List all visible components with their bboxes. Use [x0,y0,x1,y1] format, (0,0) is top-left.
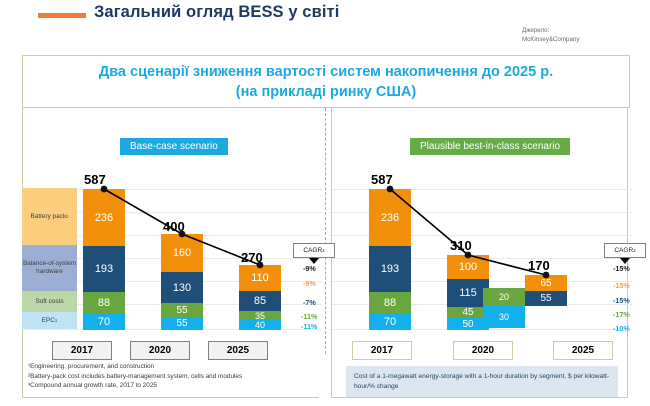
bar-segment-balance-of-system: 85 [239,291,281,311]
legend-label-soft-costs: Soft costs [35,298,63,306]
bar-segment-battery-pack: 236 [369,189,411,246]
cagr-label: CAGR [614,247,633,254]
cagr-battery-right: -15% [613,281,630,290]
bar-segment-epc: 40 [239,320,281,330]
scenario-badge-best-in-class: Plausible best-in-class scenario [410,138,570,155]
cagr-battery-left: -9% [303,279,316,288]
x-axis-label-2020-right: 2020 [453,341,513,360]
source-credit: Джерело: McKinsey&Company [522,26,642,44]
bar-segment-epc: 70 [369,313,411,330]
cagr-box-left: CAGR3 [293,243,335,258]
x-axis-label-2020-left: 2020 [130,341,190,360]
bar-total-2025-right: 170 [528,258,550,273]
cagr-epc-left: -11% [301,322,317,331]
page-title: Загальний огляд BESS у світі [94,3,339,22]
legend-item-battery-pack: Battery pack2 [22,188,77,245]
cagr-callout-right: CAGR3 [604,243,646,264]
bar-segment-balance-of-system: 130 [161,272,203,303]
cagr-label: CAGR [303,247,322,254]
panel-divider [325,108,326,354]
legend-sup-epc: 1 [55,317,57,325]
cagr-total-right: -15% [613,264,630,273]
slide-title-box: Два сценарії зниження вартості систем на… [22,55,630,108]
x-axis-label-2017-left: 2017 [52,341,112,360]
bar-2017-left: 236 193 88 70 [83,189,125,330]
chart-base-case: Battery pack2 Balance-of-system hardware… [22,170,322,330]
bar-segment-epc: 70 [83,313,125,330]
source-name: McKinsey&Company [522,35,642,44]
cagr-epc-right: -10% [613,324,630,333]
cagr-box-right: CAGR3 [604,243,646,258]
footnote-2: ²Battery-pack cost includes battery-mana… [28,372,242,382]
bar-segment-soft-costs: 35 [239,311,281,320]
bar-segment-balance-of-system: 193 [83,246,125,292]
legend: Battery pack2 Balance-of-system hardware… [22,188,77,329]
bar-segment-battery-pack: 100 [447,255,489,279]
bar-2025-left: 110 85 35 40 [239,265,281,330]
legend-item-balance-of-system: Balance-of-system hardware [22,245,77,291]
chart-note: Cost of a 1-megawatt energy-storage with… [346,366,618,397]
legend-item-epc: EPC1 [22,312,77,329]
legend-label-balance-of-system: Balance-of-system hardware [22,260,77,276]
cagr-soft-right: -17% [613,310,630,319]
bar-total-2020-left: 400 [163,219,185,234]
bar-segment-balance-of-system: 55 [525,291,567,306]
bar-total-2025-left: 270 [241,250,263,265]
bar-segment-soft-costs: 55 [161,303,203,317]
bar-segment-soft-costs: 20 [483,288,525,306]
slide-title-line2: (на прикладі ринку США) [236,82,416,102]
legend-label-epc: EPC [42,317,55,325]
cagr-sup: 3 [322,248,324,253]
bar-total-2020-right: 310 [450,238,472,253]
cagr-callout-left: CAGR3 [293,243,335,264]
x-axis-label-2025-right: 2025 [553,341,613,360]
cagr-total-left: -9% [303,264,316,273]
x-axis-label-2025-left: 2025 [208,341,268,360]
bar-segment-battery-pack: 160 [161,234,203,272]
cagr-bos-right: -15% [613,296,630,305]
bar-2017-right: 236 193 88 70 [369,189,411,330]
bar-2020-left: 160 130 55 55 [161,234,203,330]
legend-sup-battery-pack: 2 [66,213,68,221]
cagr-sup: 3 [633,248,635,253]
slide-title-line1: Два сценарії зниження вартості систем на… [99,62,553,82]
bar-segment-battery-pack: 65 [525,275,567,291]
bar-segment-battery-pack: 236 [83,189,125,246]
header-accent-rule [38,13,86,18]
footnote-3: ³Compound annual growth rate, 2017 to 20… [28,381,242,391]
footnote-1: ¹Engineering, procurement, and construct… [28,362,242,372]
source-label: Джерело: [522,26,642,35]
bar-total-2017-right: 587 [371,172,393,187]
bar-total-2017-left: 587 [84,172,106,187]
cagr-bos-left: -7% [303,298,316,307]
bar-segment-epc: 55 [161,317,203,330]
chart-best-in-class: 587 236 193 88 70 310 100 115 45 50 170 … [332,170,632,330]
bar-segment-balance-of-system: 193 [369,246,411,292]
x-axis-label-2017-right: 2017 [352,341,412,360]
legend-item-soft-costs: Soft costs [22,291,77,312]
footnotes: ¹Engineering, procurement, and construct… [28,362,242,391]
scenario-badge-base-case: Base-case scenario [120,138,228,155]
bar-segment-soft-costs: 88 [369,292,411,313]
bar-segment-soft-costs: 88 [83,292,125,313]
legend-label-battery-pack: Battery pack [31,213,67,221]
bar-segment-battery-pack: 110 [239,265,281,291]
bar-segment-epc: 30 [483,306,525,328]
cagr-soft-left: -11% [301,312,317,321]
